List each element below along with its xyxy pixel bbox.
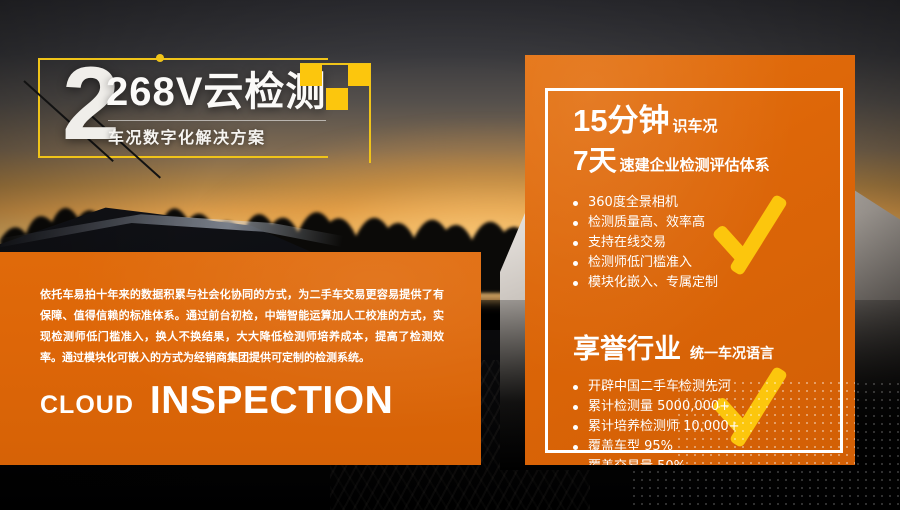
headline-7-days: 7天 速建企业检测评估体系 <box>573 143 831 179</box>
list-item: 360度全景相机 <box>573 193 831 213</box>
brand-word-inspection: INSPECTION <box>150 379 393 423</box>
left-orange-panel: 依托车易拍十年来的数据积累与社会化协同的方式，为二手车交易更容易提供了有保障、值… <box>0 252 481 465</box>
headline-2-tail: 速建企业检测评估体系 <box>620 156 770 176</box>
headline-2-number: 7天 <box>573 143 617 179</box>
headline-15-minutes: 15分钟 识车况 <box>573 103 831 139</box>
section-2-main: 享誉行业 <box>573 333 681 365</box>
list-item: 开辟中国二手车检测先河 <box>573 377 831 397</box>
section-2-heading: 享誉行业 统一车况语言 <box>573 333 831 365</box>
title-divider <box>108 120 326 121</box>
list-item: 覆盖车型 95% <box>573 437 831 457</box>
checker-square-3 <box>326 88 348 110</box>
page-title: 268V云检测 <box>106 70 326 114</box>
right-orange-panel: 15分钟 识车况 7天 速建企业检测评估体系 360度全景相机 检测质量高、效率… <box>525 55 855 465</box>
brand-wordmark: CLOUD INSPECTION <box>40 379 393 423</box>
right-panel-content: 15分钟 识车况 7天 速建企业检测评估体系 360度全景相机 检测质量高、效率… <box>573 103 831 465</box>
checker-square-1 <box>300 64 322 86</box>
headline-1-tail: 识车况 <box>672 117 717 137</box>
checker-squares-decoration <box>300 55 370 111</box>
list-item: 检测师低门槛准入 <box>573 253 831 273</box>
page-subtitle: 车况数字化解决方案 <box>108 128 266 150</box>
list-item: 支持在线交易 <box>573 233 831 253</box>
feature-list-2: 开辟中国二手车检测先河 累计检测量 5000,000+ 累计培养检测师 10,0… <box>573 377 831 465</box>
brand-word-cloud: CLOUD <box>40 391 134 420</box>
checker-square-2 <box>348 64 370 86</box>
slide-canvas: 2 268V云检测 车况数字化解决方案 依托车易拍十年来的数据积累与社会化协同的… <box>0 0 900 510</box>
headline-1-number: 15分钟 <box>573 103 669 139</box>
list-item: 模块化嵌入、专属定制 <box>573 273 831 293</box>
section-2-sub: 统一车况语言 <box>690 343 774 363</box>
body-paragraph: 依托车易拍十年来的数据积累与社会化协同的方式，为二手车交易更容易提供了有保障、值… <box>40 284 444 368</box>
list-item: 覆盖交易量 50% <box>573 457 831 465</box>
feature-list-1: 360度全景相机 检测质量高、效率高 支持在线交易 检测师低门槛准入 模块化嵌入… <box>573 193 831 293</box>
list-item: 检测质量高、效率高 <box>573 213 831 233</box>
bracket-dot-icon <box>156 54 164 62</box>
list-item: 累计检测量 5000,000+ <box>573 397 831 417</box>
list-item: 累计培养检测师 10,000+ <box>573 417 831 437</box>
